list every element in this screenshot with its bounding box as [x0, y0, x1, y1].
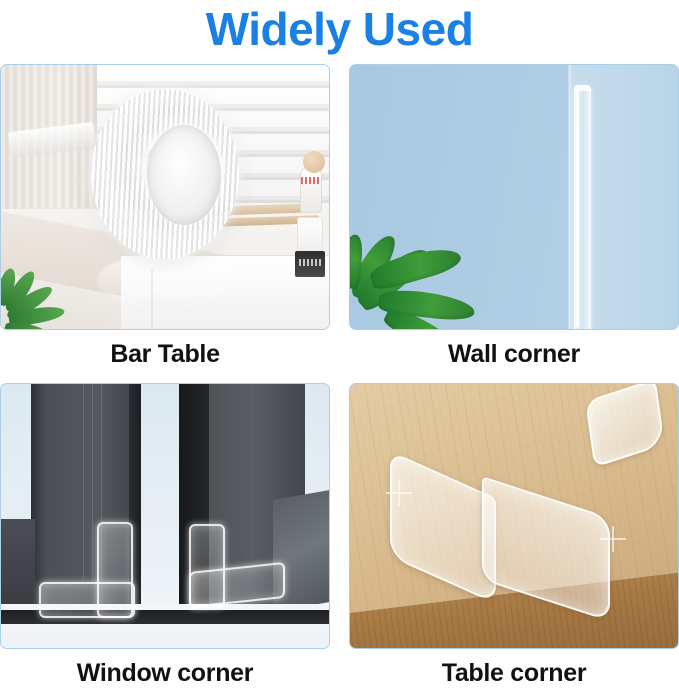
- photo-window-corner: [0, 383, 330, 649]
- photo-wall-corner: [349, 64, 679, 330]
- panel-caption: Bar Table: [0, 330, 330, 369]
- panel-caption: Window corner: [0, 649, 330, 688]
- guard-arm-right: [482, 476, 610, 622]
- figurine-head: [303, 151, 325, 173]
- photo-bar-table: [0, 64, 330, 330]
- panel-table-corner: Table corner: [349, 383, 679, 689]
- figurine-stripe: [301, 177, 320, 184]
- corner-guard-highlight: [576, 89, 579, 327]
- panel-grid: Bar Table Wall corner: [0, 64, 679, 676]
- sparkle-icon: [600, 526, 626, 552]
- window-sill: [1, 519, 35, 607]
- sparkle-icon: [386, 480, 412, 506]
- tape-core-hole: [147, 125, 221, 225]
- small-box: [295, 251, 325, 277]
- wall-corner-edge: [569, 65, 572, 329]
- photo-table-corner: [349, 383, 679, 649]
- potted-plant: [356, 199, 496, 329]
- corner-guard-installed: [390, 476, 610, 604]
- page-title: Widely Used: [0, 0, 679, 58]
- tape-roll: [91, 89, 239, 259]
- product-infographic: Widely Used: [0, 0, 679, 676]
- panel-caption: Table corner: [349, 649, 679, 688]
- panel-wall-corner: Wall corner: [349, 64, 679, 370]
- tape-reflection: [97, 253, 231, 309]
- fern-plant: [0, 249, 91, 329]
- panel-window-corner: Window corner: [0, 383, 330, 689]
- panel-caption: Wall corner: [349, 330, 679, 369]
- corner-guard-left-horizontal: [39, 582, 135, 618]
- panel-bar-table: Bar Table: [0, 64, 330, 370]
- figurine: [295, 151, 325, 225]
- figurine-body: [300, 167, 322, 213]
